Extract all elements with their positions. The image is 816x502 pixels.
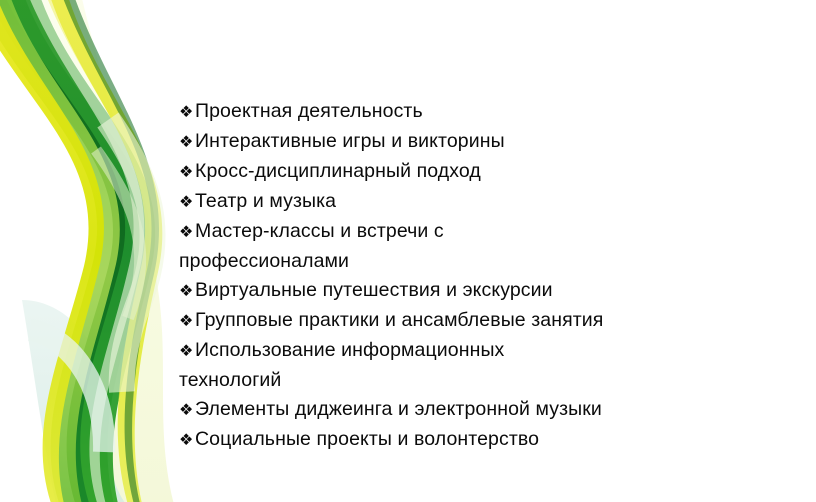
diamond-bullet-icon: ❖ bbox=[179, 218, 195, 247]
list-item: ❖Проектная деятельность bbox=[179, 97, 799, 127]
diamond-bullet-icon: ❖ bbox=[179, 188, 195, 217]
presentation-slide: ❖Проектная деятельность ❖Интерактивные и… bbox=[0, 0, 816, 502]
diamond-bullet-icon: ❖ bbox=[179, 307, 195, 336]
list-item-label: Элементы диджеинга и электронной музыки bbox=[195, 398, 602, 420]
diamond-bullet-icon: ❖ bbox=[179, 277, 195, 306]
list-item-label: Групповые практики и ансамблевые занятия bbox=[195, 309, 603, 331]
list-item-label: Театр и музыка bbox=[195, 190, 336, 212]
list-item-continuation: технологий bbox=[179, 366, 799, 395]
diamond-bullet-icon: ❖ bbox=[179, 158, 195, 187]
diamond-bullet-icon: ❖ bbox=[179, 98, 195, 127]
list-item-continuation: профессионалами bbox=[179, 247, 799, 276]
bullet-list: ❖Проектная деятельность ❖Интерактивные и… bbox=[179, 97, 799, 455]
list-item-label: Социальные проекты и волонтерство bbox=[195, 428, 539, 450]
diamond-bullet-icon: ❖ bbox=[179, 337, 195, 366]
list-item: ❖Мастер-классы и встречи с bbox=[179, 217, 799, 247]
list-item: ❖Кросс-дисциплинарный подход bbox=[179, 157, 799, 187]
decorative-ribbon-graphic bbox=[0, 0, 180, 502]
list-item: ❖Социальные проекты и волонтерство bbox=[179, 425, 799, 455]
list-item: ❖Театр и музыка bbox=[179, 187, 799, 217]
list-item-label: Проектная деятельность bbox=[195, 100, 423, 122]
diamond-bullet-icon: ❖ bbox=[179, 128, 195, 157]
diamond-bullet-icon: ❖ bbox=[179, 396, 195, 425]
list-item: ❖Использование информационных bbox=[179, 336, 799, 366]
list-item-label: Мастер-классы и встречи с bbox=[195, 220, 444, 242]
list-item-label: Виртуальные путешествия и экскурсии bbox=[195, 279, 553, 301]
list-item: ❖Интерактивные игры и викторины bbox=[179, 127, 799, 157]
list-item: ❖Элементы диджеинга и электронной музыки bbox=[179, 395, 799, 425]
list-item-label: Использование информационных bbox=[195, 339, 504, 361]
list-item-label: технологий bbox=[179, 369, 281, 391]
list-item-label: профессионалами bbox=[179, 250, 349, 272]
list-item: ❖Групповые практики и ансамблевые заняти… bbox=[179, 306, 799, 336]
list-item: ❖Виртуальные путешествия и экскурсии bbox=[179, 276, 799, 306]
list-item-label: Кросс-дисциплинарный подход bbox=[195, 160, 481, 182]
diamond-bullet-icon: ❖ bbox=[179, 426, 195, 455]
list-item-label: Интерактивные игры и викторины bbox=[195, 130, 505, 152]
